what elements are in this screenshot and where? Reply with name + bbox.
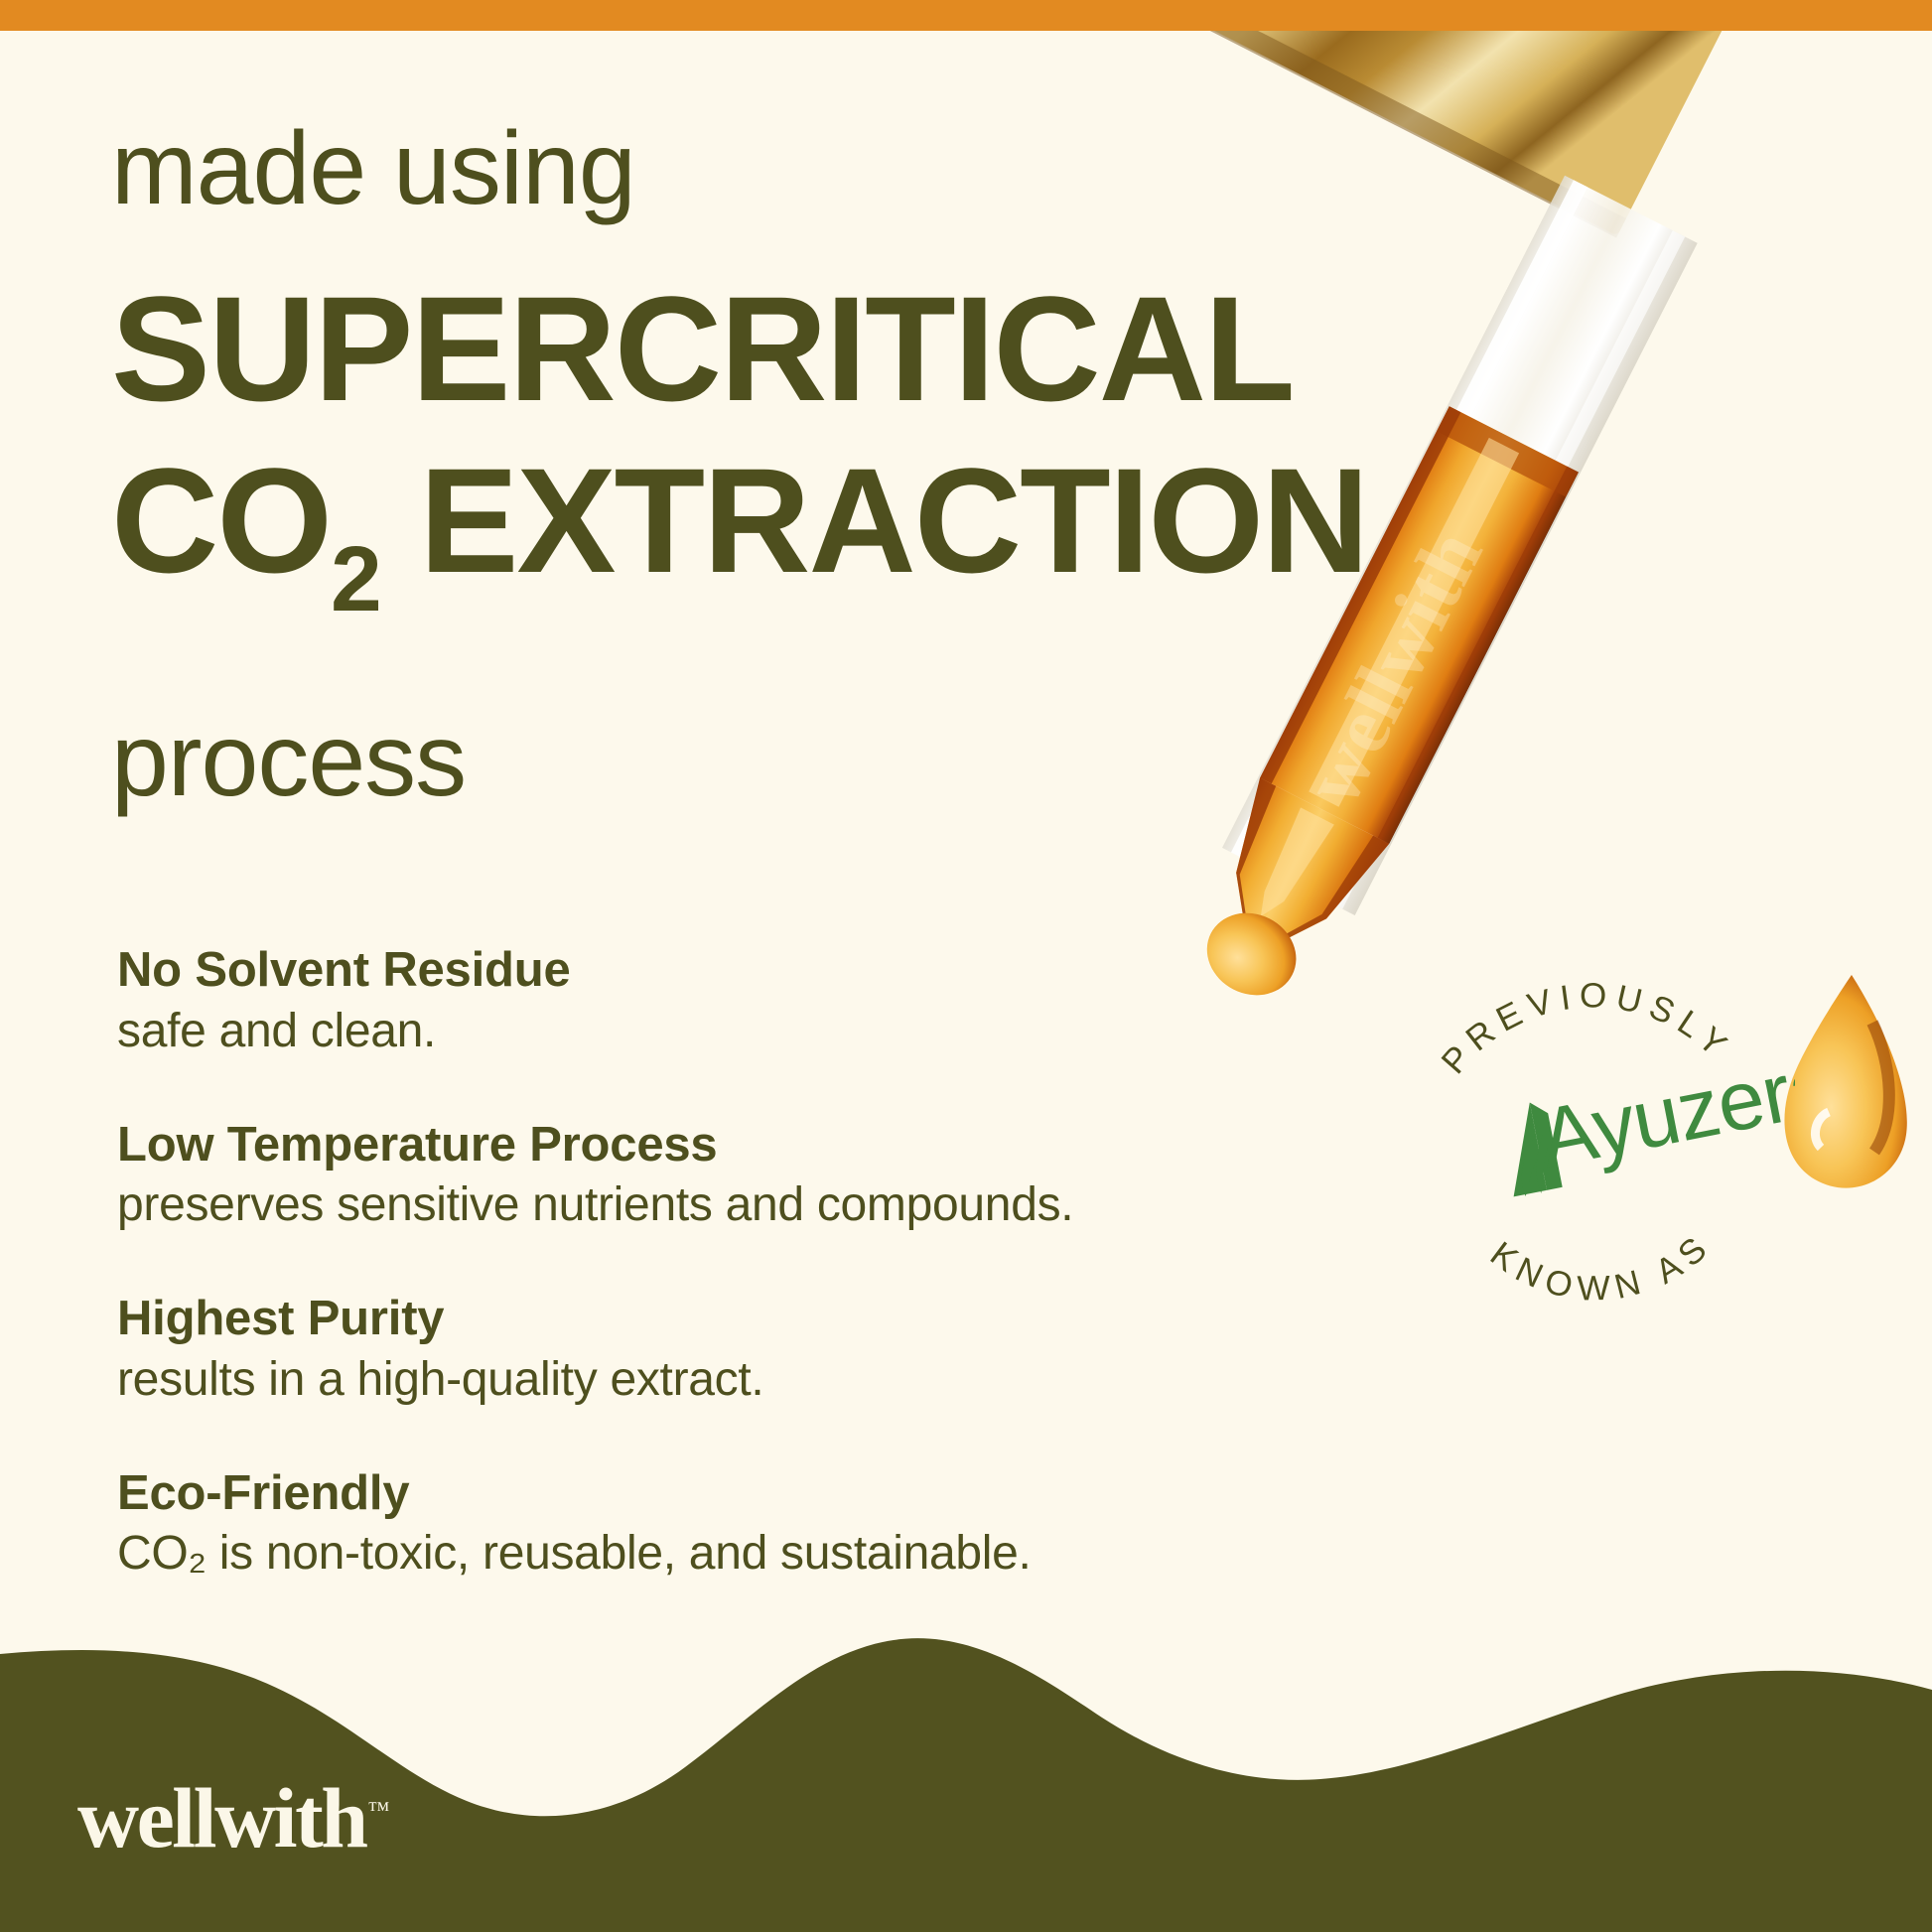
benefit-title: Low Temperature Process bbox=[117, 1118, 1289, 1173]
poster-canvas: wellwith made using SUPERCRITICAL CO2 EX… bbox=[0, 0, 1932, 1932]
benefit-title: Eco-Friendly bbox=[117, 1466, 1289, 1521]
page-title: SUPERCRITICAL CO2 EXTRACTION bbox=[111, 278, 1367, 622]
benefit-description: safe and clean. bbox=[117, 1004, 1289, 1060]
list-item: Eco-Friendly CO₂ is non-toxic, reusable,… bbox=[117, 1466, 1289, 1584]
headline-extraction: EXTRACTION bbox=[380, 437, 1368, 604]
list-item: Low Temperature Process preserves sensit… bbox=[117, 1118, 1289, 1235]
trademark-symbol: ™ bbox=[368, 1797, 390, 1822]
previously-known-as-badge: PREVIOUSLY KNOWN AS Ayuzera bbox=[1388, 921, 1795, 1328]
headline-line-1: SUPERCRITICAL bbox=[111, 278, 1367, 420]
headline-closer: process bbox=[111, 709, 466, 812]
benefit-description: preserves sensitive nutrients and compou… bbox=[117, 1177, 1289, 1234]
benefit-title: No Solvent Residue bbox=[117, 943, 1289, 998]
benefit-description: results in a high-quality extract. bbox=[117, 1352, 1289, 1409]
eyebrow-text: made using bbox=[111, 117, 635, 220]
badge-brand-name: Ayuzera bbox=[1532, 1036, 1795, 1185]
benefit-description: CO₂ is non-toxic, reusable, and sustaina… bbox=[117, 1526, 1289, 1583]
benefits-list: No Solvent Residue safe and clean. Low T… bbox=[117, 943, 1289, 1583]
list-item: Highest Purity results in a high-quality… bbox=[117, 1292, 1289, 1409]
brand-logo: wellwith™ bbox=[77, 1775, 389, 1861]
headline-co2-prefix: CO bbox=[111, 437, 331, 604]
brand-logo-text: wellwith bbox=[77, 1770, 366, 1865]
benefit-title: Highest Purity bbox=[117, 1292, 1289, 1346]
list-item: No Solvent Residue safe and clean. bbox=[117, 943, 1289, 1060]
top-accent-bar bbox=[0, 0, 1932, 31]
headline-line-2: CO2 EXTRACTION bbox=[111, 450, 1367, 622]
headline-co2-subscript: 2 bbox=[331, 527, 380, 630]
badge-bottom-arc-text: KNOWN AS bbox=[1483, 1224, 1720, 1308]
